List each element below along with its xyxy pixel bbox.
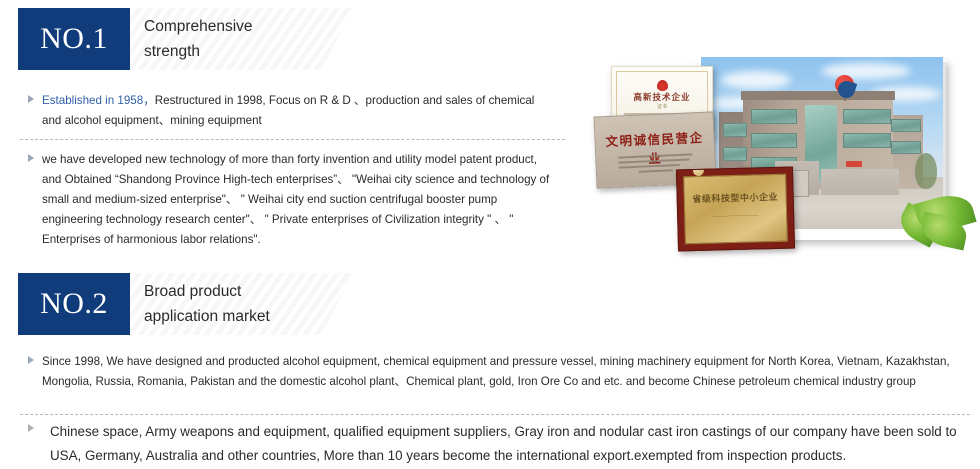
triangle-bullet-icon xyxy=(26,420,42,432)
section-header-no1: NO.1 Comprehensive strength xyxy=(18,8,352,70)
section-badge-no2: NO.2 xyxy=(18,273,130,335)
bullet-highlight: Established in 1958， xyxy=(42,94,155,107)
building-parapet xyxy=(741,91,895,100)
section-title-no2: Broad product application market xyxy=(130,273,352,329)
bullet-text: Since 1998, We have designed and product… xyxy=(42,352,971,392)
flame-emblem-icon xyxy=(657,80,668,91)
bullet-text: Chinese space, Army weapons and equipmen… xyxy=(42,420,971,468)
red-vehicle xyxy=(846,161,862,167)
certificate-subtitle: 证书 xyxy=(612,103,712,110)
bullet-text: we have developed new technology of more… xyxy=(42,150,556,250)
triangle-bullet-icon xyxy=(26,150,42,162)
triangle-bullet-icon xyxy=(26,91,42,103)
mint-leaf-decoration xyxy=(891,194,979,256)
certificate-title: 高新技术企业 xyxy=(612,91,712,103)
divider xyxy=(20,139,565,140)
section-header-no2: NO.2 Broad product application market xyxy=(18,273,352,335)
photo-collage: 高新技术企业 证书 文明诚信民营企业 省级科技型中小企业 ————————— xyxy=(595,52,980,257)
bullet-text: Established in 1958，Restructured in 1998… xyxy=(42,91,556,131)
technology-center-plaque: 省级科技型中小企业 ————————— xyxy=(676,166,795,251)
bullet-item: Chinese space, Army weapons and equipmen… xyxy=(26,420,971,468)
triangle-bullet-icon xyxy=(26,352,42,364)
bullet-item: Since 1998, We have designed and product… xyxy=(26,352,971,392)
section-title-no1: Comprehensive strength xyxy=(130,8,352,64)
building-podium xyxy=(821,169,899,195)
section-badge-no1: NO.1 xyxy=(18,8,130,70)
page-root: NO.1 Comprehensive strength Established … xyxy=(0,0,980,469)
divider xyxy=(20,414,970,415)
bullet-item: we have developed new technology of more… xyxy=(26,150,556,250)
bullet-item: Established in 1958，Restructured in 1998… xyxy=(26,91,556,131)
section-title-wrap-no2: Broad product application market xyxy=(130,273,352,335)
section-title-wrap-no1: Comprehensive strength xyxy=(130,8,352,70)
